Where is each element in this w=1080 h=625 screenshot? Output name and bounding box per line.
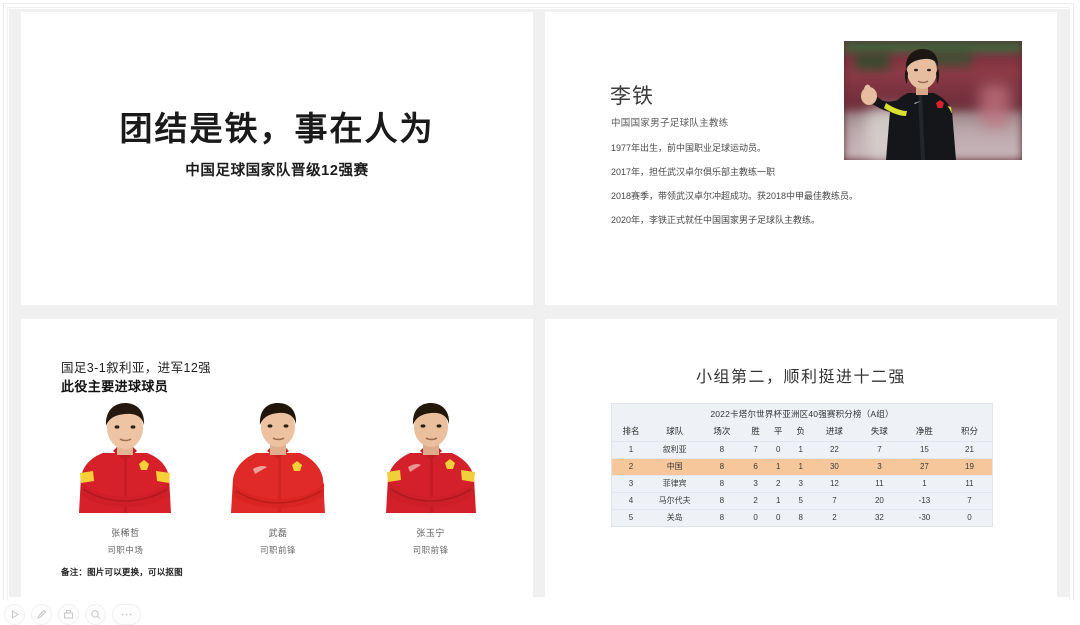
slide-thumbnail-title[interactable]: 团结是铁，事在人为 中国足球国家队晋级12强赛 — [21, 12, 533, 305]
cell-rank: 5 — [612, 509, 650, 526]
cell-points: 11 — [947, 475, 992, 492]
cell-goals-for: 2 — [812, 509, 857, 526]
column-header-drawn: 平 — [767, 423, 790, 441]
column-header-points: 积分 — [947, 423, 992, 441]
coach-bio-line: 2017年，担任武汉卓尔俱乐部主教练一职 — [611, 166, 883, 179]
toolbar-buttons — [4, 604, 141, 625]
cell-played: 8 — [699, 509, 744, 526]
cell-rank: 1 — [612, 441, 650, 458]
slide-thumbnail-players[interactable]: 国足3-1叙利亚，进军12强 此役主要进球球员 — [21, 319, 533, 597]
cell-drawn: 0 — [767, 509, 790, 526]
standings-table-caption: 2022卡塔尔世界杯亚洲区40强赛积分榜（A组） — [612, 404, 992, 423]
player-figure-icon — [212, 401, 344, 519]
cell-team: 叙利亚 — [650, 441, 699, 458]
player-name: 张玉宁 — [365, 526, 497, 539]
cell-team: 中国 — [650, 458, 699, 475]
cell-goals-against: 7 — [857, 441, 902, 458]
column-header-lost: 负 — [789, 423, 812, 441]
page-title: 团结是铁，事在人为 — [21, 110, 533, 148]
players-note: 备注：图片可以更换，可以抠图 — [61, 566, 183, 578]
list-item[interactable]: 张玉宁 司职前锋 — [365, 401, 497, 556]
cell-goal-diff: 15 — [902, 441, 947, 458]
cell-team: 菲律宾 — [650, 475, 699, 492]
cell-drawn: 1 — [767, 492, 790, 509]
search-icon[interactable] — [85, 604, 106, 625]
cell-points: 21 — [947, 441, 992, 458]
coach-bio-line: 1977年出生，前中国职业足球运动员。 — [611, 142, 883, 155]
coach-bio-line: 2018赛季，带领武汉卓尔冲超成功。获2018中甲最佳教练员。 — [611, 190, 883, 203]
cell-won: 0 — [744, 509, 767, 526]
player-photo — [59, 401, 191, 519]
player-position: 司职中场 — [59, 544, 191, 556]
cell-goal-diff: -30 — [902, 509, 947, 526]
cell-goals-for: 22 — [812, 441, 857, 458]
table-row[interactable]: 4 马尔代夫 8 2 1 5 7 20 -13 7 — [612, 492, 992, 509]
cell-team: 关岛 — [650, 509, 699, 526]
coach-name: 李铁 — [610, 80, 654, 110]
table-row-highlighted[interactable]: 2 中国 8 6 1 1 30 3 27 19 — [612, 458, 992, 475]
cell-rank: 2 — [612, 458, 650, 475]
cell-played: 8 — [699, 458, 744, 475]
table-header-row: 排名 球队 场次 胜 平 负 进球 失球 净胜 积分 — [612, 423, 992, 441]
cell-played: 8 — [699, 492, 744, 509]
cell-played: 8 — [699, 475, 744, 492]
cell-lost: 3 — [789, 475, 812, 492]
slide-thumbnail-coach[interactable]: 李铁 中国国家男子足球队主教练 1977年出生，前中国职业足球运动员。 2017… — [545, 12, 1057, 305]
cell-goal-diff: 1 — [902, 475, 947, 492]
cell-goal-diff: -13 — [902, 492, 947, 509]
players-heading-primary: 国足3-1叙利亚，进军12强 — [61, 357, 211, 376]
slide-thumbnail-standings[interactable]: 小组第二，顺利挺进十二强 2022卡塔尔世界杯亚洲区40强赛积分榜（A组） 排名… — [545, 319, 1057, 597]
column-header-rank: 排名 — [612, 423, 650, 441]
cell-team: 马尔代夫 — [650, 492, 699, 509]
print-icon[interactable] — [58, 604, 79, 625]
cell-goals-against: 3 — [857, 458, 902, 475]
cell-lost: 8 — [789, 509, 812, 526]
players-heading-secondary: 此役主要进球球员 — [61, 376, 168, 395]
cell-lost: 1 — [789, 441, 812, 458]
player-name: 武磊 — [212, 526, 344, 539]
cell-goal-diff: 27 — [902, 458, 947, 475]
cell-played: 8 — [699, 441, 744, 458]
table-row[interactable]: 3 菲律宾 8 3 2 3 12 11 1 11 — [612, 475, 992, 492]
coach-bio-line: 2020年，李铁正式就任中国国家男子足球队主教练。 — [611, 214, 883, 227]
player-position: 司职前锋 — [365, 544, 497, 556]
column-header-team: 球队 — [650, 423, 699, 441]
cell-goals-against: 32 — [857, 509, 902, 526]
cell-won: 6 — [744, 458, 767, 475]
standings-table: 2022卡塔尔世界杯亚洲区40强赛积分榜（A组） 排名 球队 场次 胜 平 负 — [612, 404, 992, 526]
cell-goals-against: 11 — [857, 475, 902, 492]
column-header-played: 场次 — [699, 423, 744, 441]
coach-role: 中国国家男子足球队主教练 — [611, 115, 729, 129]
coach-figure-icon — [844, 41, 1022, 160]
table-body: 1 叙利亚 8 7 0 1 22 7 15 21 2 — [612, 441, 992, 526]
player-position: 司职前锋 — [212, 544, 344, 556]
column-header-goal-diff: 净胜 — [902, 423, 947, 441]
cell-rank: 3 — [612, 475, 650, 492]
cell-points: 7 — [947, 492, 992, 509]
column-header-goals-against: 失球 — [857, 423, 902, 441]
list-item[interactable]: 张稀哲 司职中场 — [59, 401, 191, 556]
cell-won: 2 — [744, 492, 767, 509]
column-header-goals-for: 进球 — [812, 423, 857, 441]
cell-goals-for: 30 — [812, 458, 857, 475]
table-row[interactable]: 5 关岛 8 0 0 8 2 32 -30 0 — [612, 509, 992, 526]
coach-bio: 1977年出生，前中国职业足球运动员。 2017年，担任武汉卓尔俱乐部主教练一职… — [611, 142, 883, 238]
player-photo — [365, 401, 497, 519]
cell-drawn: 0 — [767, 441, 790, 458]
cell-points: 0 — [947, 509, 992, 526]
cell-goals-for: 7 — [812, 492, 857, 509]
player-figure-icon — [59, 401, 191, 519]
more-icon[interactable] — [112, 604, 141, 625]
cell-goals-for: 12 — [812, 475, 857, 492]
play-icon[interactable] — [4, 604, 25, 625]
app-window: 团结是铁，事在人为 中国足球国家队晋级12强赛 李铁 中国国家男子足球队主教练 … — [0, 0, 1080, 624]
coach-photo — [844, 41, 1022, 160]
cell-drawn: 1 — [767, 458, 790, 475]
cell-rank: 4 — [612, 492, 650, 509]
cell-drawn: 2 — [767, 475, 790, 492]
cell-points: 19 — [947, 458, 992, 475]
standings-table-container: 2022卡塔尔世界杯亚洲区40强赛积分榜（A组） 排名 球队 场次 胜 平 负 — [611, 403, 993, 527]
standings-title: 小组第二，顺利挺进十二强 — [545, 363, 1057, 387]
player-photo — [212, 401, 344, 519]
player-figure-icon — [365, 401, 497, 519]
bottom-toolbar — [0, 600, 1080, 624]
page-subtitle: 中国足球国家队晋级12强赛 — [21, 159, 533, 180]
column-header-won: 胜 — [744, 423, 767, 441]
table-row[interactable]: 1 叙利亚 8 7 0 1 22 7 15 21 — [612, 441, 992, 458]
cell-goals-against: 20 — [857, 492, 902, 509]
table-header: 排名 球队 场次 胜 平 负 进球 失球 净胜 积分 — [612, 423, 992, 441]
player-name: 张稀哲 — [59, 526, 191, 539]
pencil-icon[interactable] — [31, 604, 52, 625]
cell-won: 3 — [744, 475, 767, 492]
cell-lost: 1 — [789, 458, 812, 475]
list-item[interactable]: 武磊 司职前锋 — [212, 401, 344, 556]
cell-lost: 5 — [789, 492, 812, 509]
slide-grid: 团结是铁，事在人为 中国足球国家队晋级12强赛 李铁 中国国家男子足球队主教练 … — [9, 9, 1070, 597]
player-list: 张稀哲 司职中场 — [49, 401, 507, 556]
cell-won: 7 — [744, 441, 767, 458]
